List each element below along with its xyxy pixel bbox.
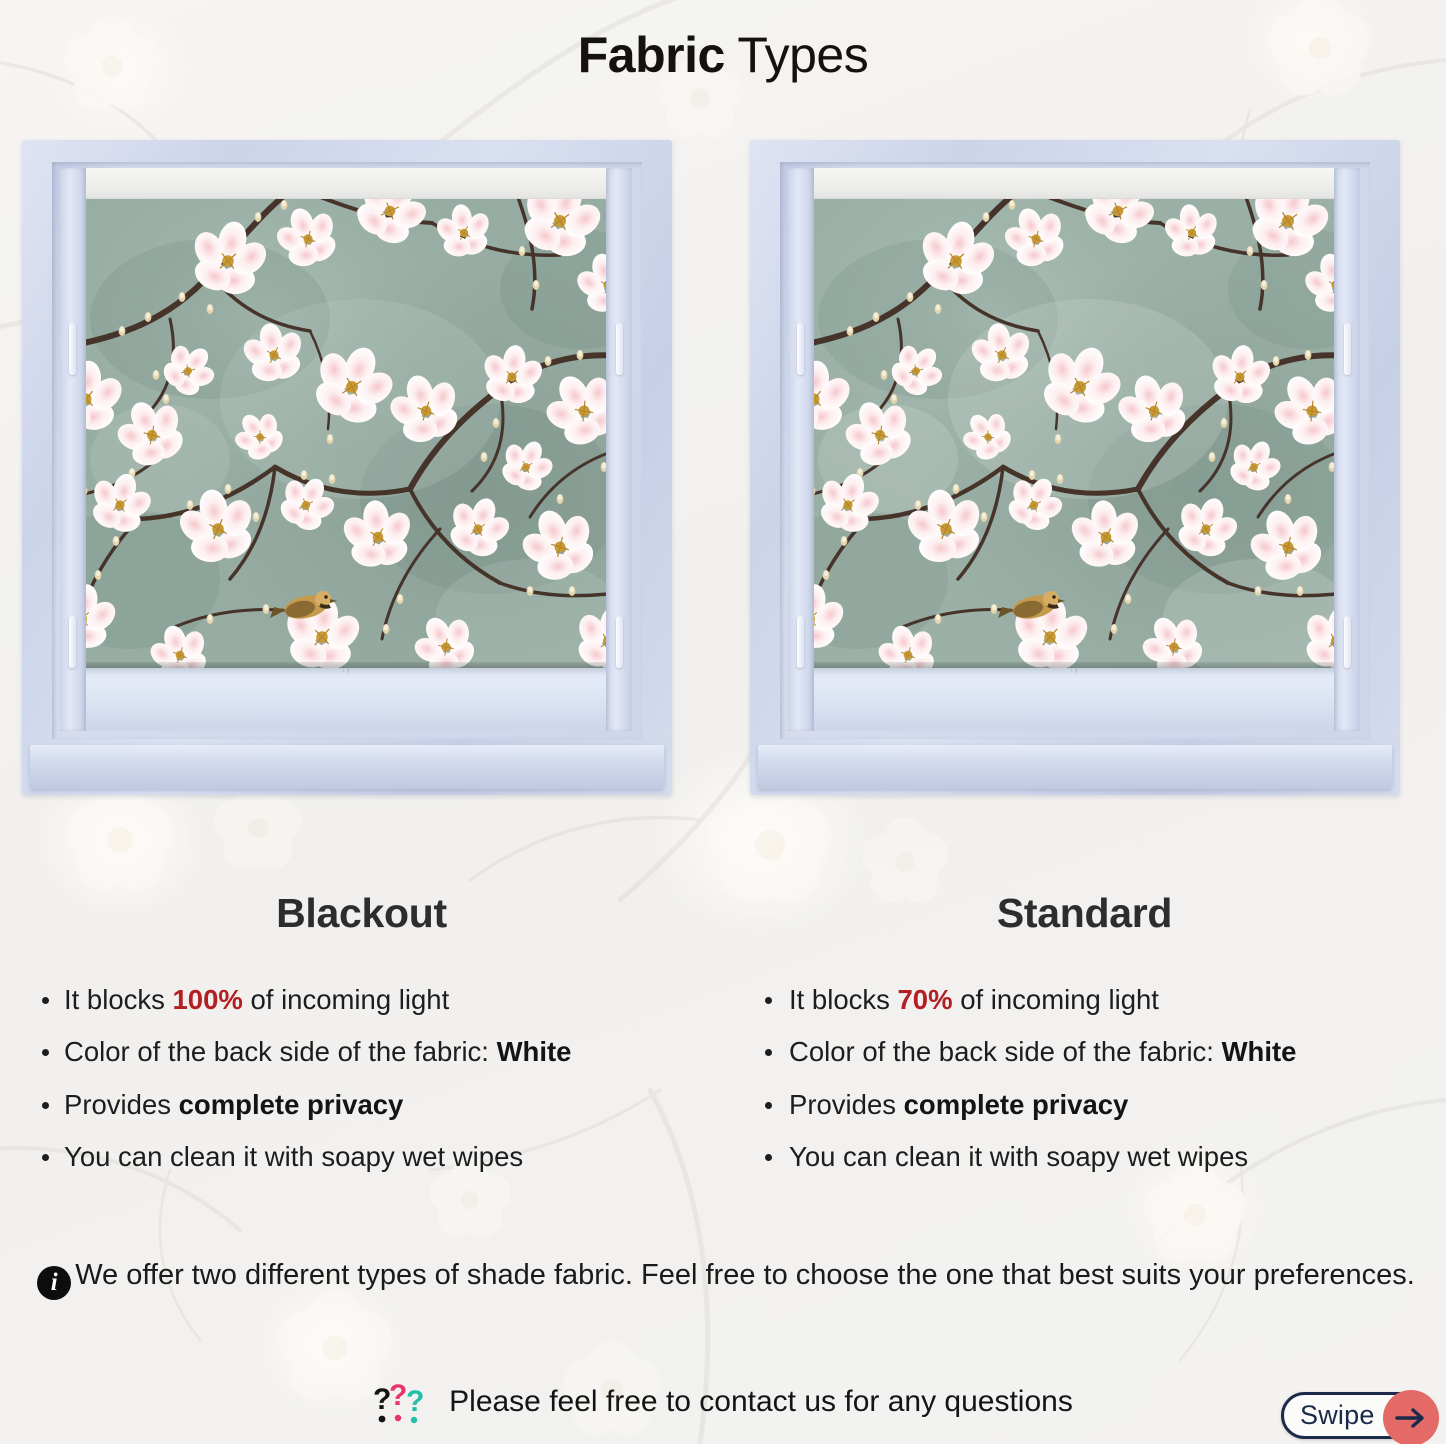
- contact-text: Please feel free to contact us for any q…: [449, 1385, 1073, 1419]
- bullet-text-pre: You can clean it with soapy wet wipes: [789, 1141, 1248, 1172]
- roller-shade-standard: [788, 168, 1360, 668]
- shade-handle-lower-right[interactable]: [616, 616, 623, 668]
- bullet-text-pre: You can clean it with soapy wet wipes: [64, 1141, 523, 1172]
- list-item: Provides complete privacy: [34, 1084, 689, 1125]
- column-title-blackout: Blackout: [34, 890, 689, 937]
- fabric-blossom-artwork: [60, 199, 632, 668]
- bullet-text-pre: Color of the back side of the fabric:: [64, 1036, 497, 1067]
- page-title-light: Types: [725, 27, 868, 83]
- info-note-text: We offer two different types of shade fa…: [75, 1259, 1415, 1291]
- bullet-text-post: of incoming light: [243, 984, 449, 1015]
- bullet-accent: complete privacy: [904, 1089, 1129, 1120]
- shade-handle-upper-right[interactable]: [1344, 323, 1351, 375]
- shade-handle-lower-left[interactable]: [797, 616, 804, 668]
- fabric-comparison-columns: Blackout It blocks 100% of incoming ligh…: [0, 890, 1446, 1188]
- sash-rail-right: [1334, 168, 1360, 731]
- shade-handle-upper-left[interactable]: [69, 323, 76, 375]
- info-note: iWe offer two different types of shade f…: [28, 1252, 1424, 1300]
- column-blackout: Blackout It blocks 100% of incoming ligh…: [0, 890, 723, 1188]
- bullet-text-pre: Provides: [64, 1089, 179, 1120]
- column-standard: Standard It blocks 70% of incoming light…: [723, 890, 1446, 1188]
- shade-handle-lower-right[interactable]: [1344, 616, 1351, 668]
- list-item: It blocks 70% of incoming light: [757, 979, 1412, 1020]
- fabric-blossom-artwork: [788, 199, 1360, 668]
- sash-rail-left: [788, 168, 814, 731]
- bullet-accent: White: [497, 1036, 572, 1067]
- info-circle-icon: i: [37, 1266, 71, 1300]
- standard-window: [750, 140, 1400, 795]
- window-opening: [60, 168, 632, 731]
- bullet-accent: White: [1222, 1036, 1297, 1067]
- bullet-text-pre: It blocks: [64, 984, 173, 1015]
- list-item: You can clean it with soapy wet wipes: [757, 1136, 1412, 1177]
- page-title: Fabric Types: [0, 26, 1446, 85]
- feature-list-blackout: It blocks 100% of incoming light Color o…: [34, 979, 689, 1177]
- blackout-window: [22, 140, 672, 795]
- shade-headrail: [60, 168, 632, 199]
- swipe-label: Swipe: [1300, 1400, 1375, 1431]
- shade-bottom-bar: [788, 662, 1360, 668]
- inner-sill: [788, 673, 1360, 731]
- contact-row: ? ? ? Please feel free to contact us for…: [0, 1379, 1446, 1425]
- bullet-text-post: of incoming light: [953, 984, 1159, 1015]
- svg-text:?: ?: [389, 1379, 407, 1412]
- shade-handle-upper-right[interactable]: [616, 323, 623, 375]
- list-item: Color of the back side of the fabric: Wh…: [757, 1031, 1412, 1072]
- shade-fabric-blackout: [60, 199, 632, 668]
- swipe-arrow-circle[interactable]: [1383, 1390, 1439, 1444]
- roller-shade-blackout: [60, 168, 632, 668]
- window-comparison-row: [0, 140, 1446, 800]
- list-item: Color of the back side of the fabric: Wh…: [34, 1031, 689, 1072]
- bullet-text-pre: Color of the back side of the fabric:: [789, 1036, 1222, 1067]
- feature-list-standard: It blocks 70% of incoming light Color of…: [757, 979, 1412, 1177]
- window-sill: [30, 745, 664, 789]
- bullet-accent: complete privacy: [179, 1089, 404, 1120]
- bullet-accent: 100%: [173, 984, 243, 1015]
- sash-rail-right: [606, 168, 632, 731]
- list-item: You can clean it with soapy wet wipes: [34, 1136, 689, 1177]
- question-marks-logo: ? ? ?: [373, 1379, 435, 1425]
- sash-rail-left: [60, 168, 86, 731]
- arrow-right-icon: [1394, 1405, 1428, 1431]
- list-item: Provides complete privacy: [757, 1084, 1412, 1125]
- bullet-accent: 70%: [898, 984, 953, 1015]
- svg-text:?: ?: [406, 1385, 424, 1418]
- bullet-text-pre: Provides: [789, 1089, 904, 1120]
- inner-sill: [60, 673, 632, 731]
- window-opening: [788, 168, 1360, 731]
- page-title-bold: Fabric: [578, 27, 725, 83]
- shade-headrail: [788, 168, 1360, 199]
- shade-handle-upper-left[interactable]: [797, 323, 804, 375]
- bullet-text-pre: It blocks: [789, 984, 898, 1015]
- shade-handle-lower-left[interactable]: [69, 616, 76, 668]
- shade-bottom-bar: [60, 662, 632, 668]
- shade-fabric-standard: [788, 199, 1360, 668]
- list-item: It blocks 100% of incoming light: [34, 979, 689, 1020]
- column-title-standard: Standard: [757, 890, 1412, 937]
- swipe-button[interactable]: Swipe: [1281, 1392, 1438, 1439]
- window-sill: [758, 745, 1392, 789]
